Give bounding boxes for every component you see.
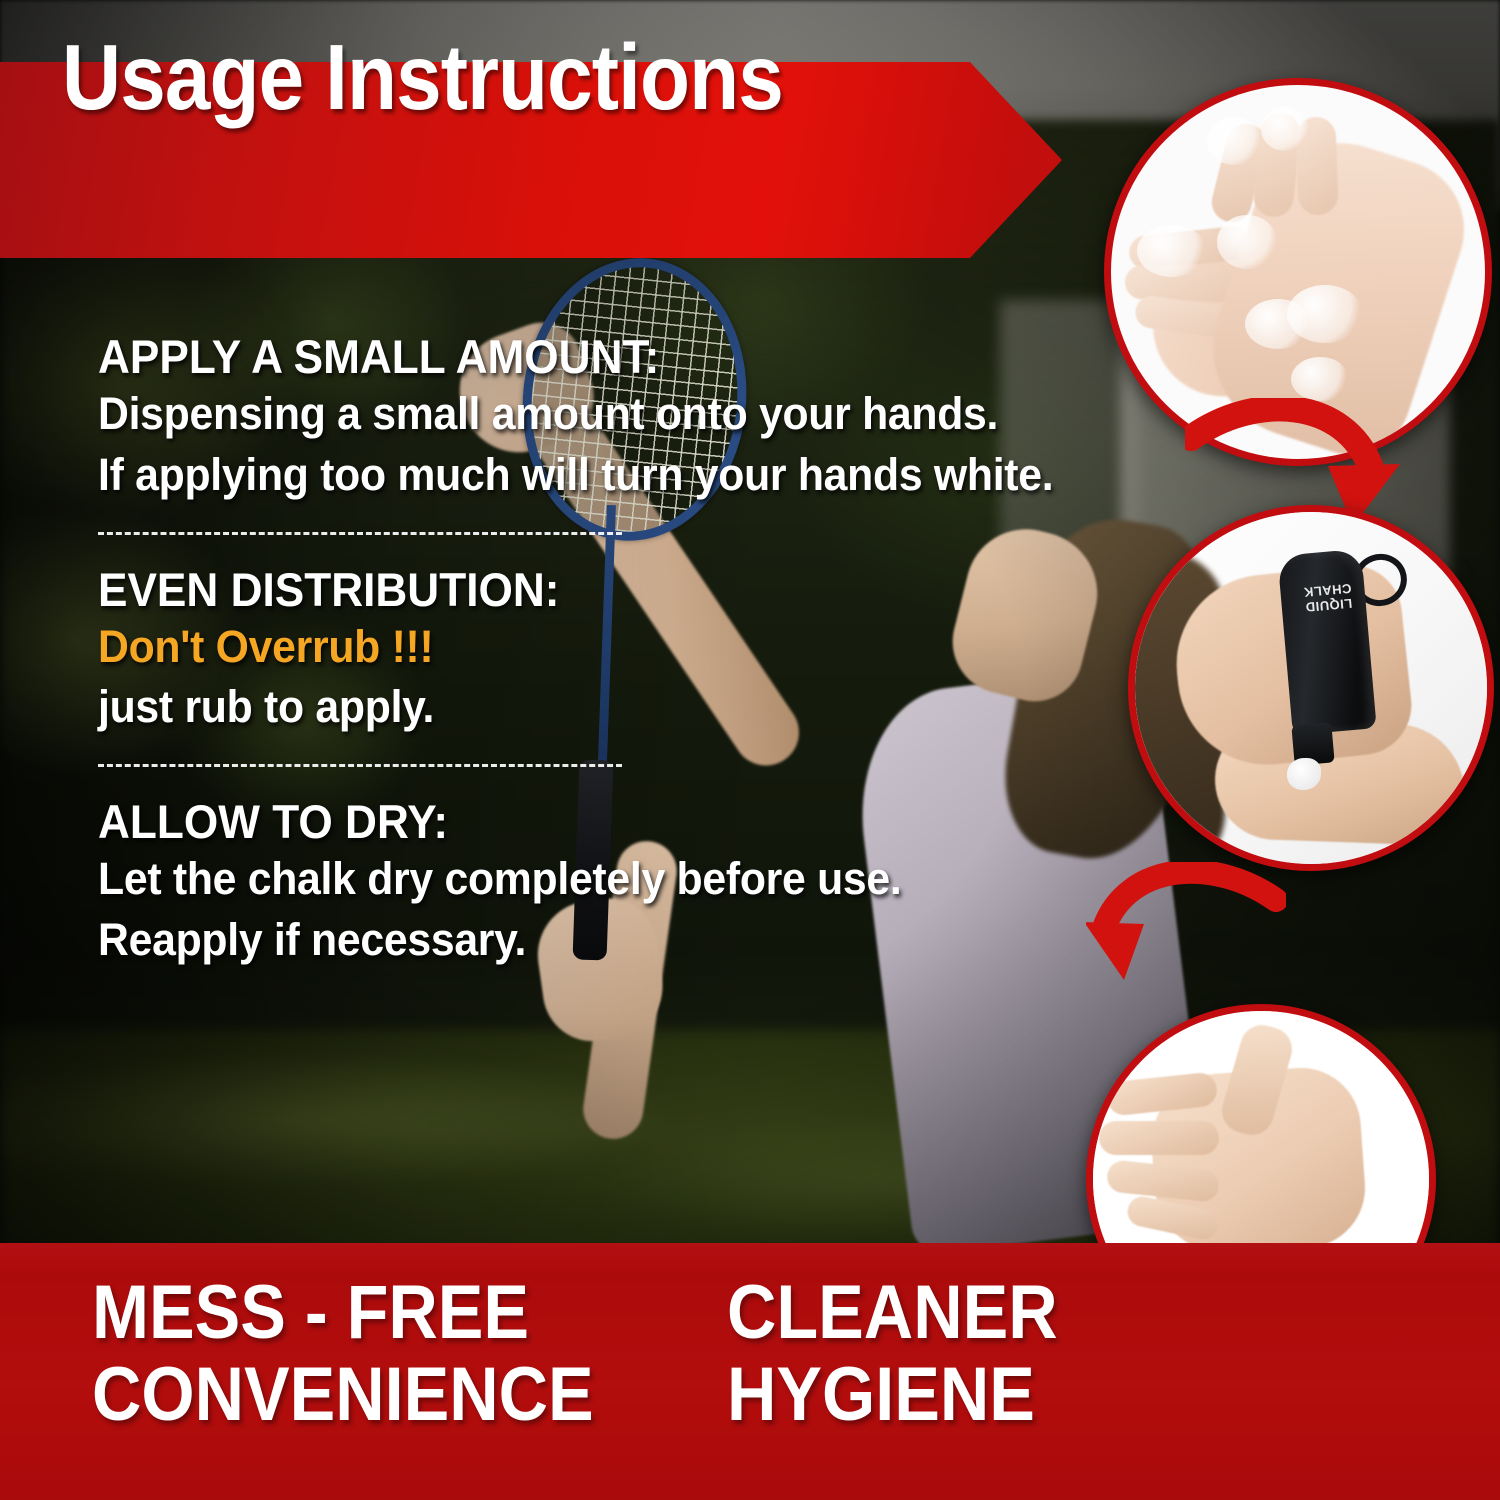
- flow-arrow-down-left-icon: [1086, 862, 1286, 997]
- soap-foam: [1291, 357, 1349, 401]
- step-heading: ALLOW TO DRY:: [98, 795, 1047, 849]
- footer-taglines: MESS - FREE CONVENIENCE CLEANER HYGIENE: [92, 1272, 1092, 1436]
- section-divider: [98, 532, 622, 535]
- step-line: Reapply if necessary.: [98, 910, 1058, 971]
- step-heading: EVEN DISTRIBUTION:: [98, 563, 1047, 617]
- spacer: [98, 506, 1108, 532]
- soap-foam: [1217, 215, 1277, 269]
- section-divider: [98, 764, 622, 767]
- step-heading: APPLY A SMALL AMOUNT:: [98, 330, 1047, 384]
- step-line: Dispensing a small amount onto your hand…: [98, 384, 1058, 445]
- chalk-cream-drop: [1287, 758, 1321, 790]
- middle-finger: [1099, 1121, 1219, 1155]
- step-apply-small-amount: APPLY A SMALL AMOUNT: Dispensing a small…: [98, 330, 1108, 506]
- liquid-chalk-bottle: [1277, 549, 1376, 736]
- soap-foam: [1245, 299, 1311, 349]
- step-warning-line: Don't Overrub !!!: [98, 617, 1058, 678]
- spacer: [98, 767, 1108, 795]
- spacer: [98, 738, 1108, 764]
- usage-instructions-infographic: Usage Instructions APPLY A SMALL AMOUNT:…: [0, 0, 1500, 1500]
- step-line: Let the chalk dry completely before use.: [98, 849, 1058, 910]
- soap-foam: [1207, 117, 1261, 165]
- tagline-line: MESS - FREE: [92, 1272, 594, 1354]
- photo-circle-liquid-chalk-bottle: LIQUID CHALK: [1128, 505, 1494, 871]
- tagline-line: CONVENIENCE: [92, 1354, 594, 1436]
- instruction-steps: APPLY A SMALL AMOUNT: Dispensing a small…: [98, 330, 1108, 971]
- step-line: just rub to apply.: [98, 677, 1058, 738]
- tagline-line: HYGIENE: [727, 1354, 1058, 1436]
- spacer: [98, 535, 1108, 563]
- page-title: Usage Instructions: [62, 24, 783, 131]
- step-allow-to-dry: ALLOW TO DRY: Let the chalk dry complete…: [98, 795, 1108, 971]
- tagline-line: CLEANER: [727, 1272, 1058, 1354]
- step-line: If applying too much will turn your hand…: [98, 445, 1058, 506]
- bottle-label-text: LIQUID CHALK: [1296, 579, 1360, 614]
- soap-foam: [1137, 225, 1207, 277]
- soap-foam: [1261, 107, 1309, 151]
- tagline-mess-free-convenience: MESS - FREE CONVENIENCE: [92, 1272, 649, 1436]
- tagline-cleaner-hygiene: CLEANER HYGIENE: [727, 1272, 1094, 1436]
- step-even-distribution: EVEN DISTRIBUTION: Don't Overrub !!! jus…: [98, 563, 1108, 739]
- liquid-chalk-dispensing-image: LIQUID CHALK: [1135, 512, 1487, 864]
